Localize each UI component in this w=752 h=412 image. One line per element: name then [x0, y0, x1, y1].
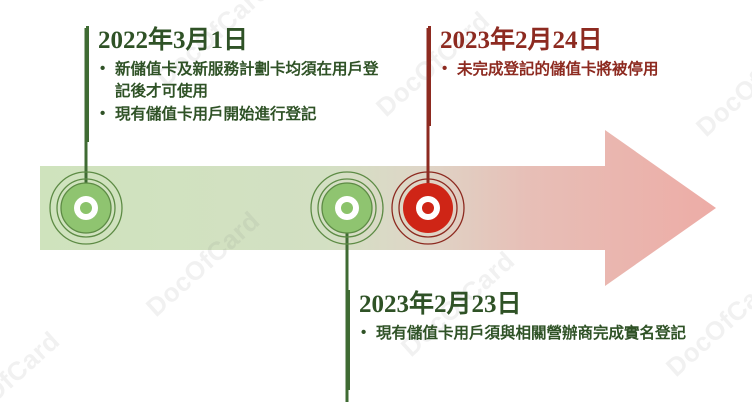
block-accent-rule: [86, 26, 89, 142]
event-bullet-list: 新儲值卡及新服務計劃卡均須在用戶登記後才可使用 現有儲值卡用戶開始進行登記: [98, 59, 386, 126]
marker-2022-03-01[interactable]: [50, 172, 122, 244]
event-bullet: 現有儲值卡用戶開始進行登記: [98, 104, 386, 126]
event-bullet: 新儲值卡及新服務計劃卡均須在用戶登記後才可使用: [98, 59, 386, 103]
event-bullet: 未完成登記的儲值卡將被停用: [440, 59, 678, 81]
event-block-2022-03-01: 2022年3月1日 新儲值卡及新服務計劃卡均須在用戶登記後才可使用 現有儲值卡用…: [86, 26, 386, 142]
timeline-infographic: DocOfCard DocOfCard DocOfCard DocOfCard …: [0, 0, 752, 412]
event-bullet: 現有儲值卡用戶須與相關營辦商完成實名登記: [359, 323, 687, 345]
block-accent-rule: [347, 290, 350, 390]
event-bullet-list: 現有儲值卡用戶須與相關營辦商完成實名登記: [359, 323, 687, 345]
event-date-title: 2023年2月23日: [359, 290, 687, 320]
event-date-title: 2022年3月1日: [98, 26, 386, 56]
block-accent-rule: [428, 26, 431, 126]
marker-2023-02-23[interactable]: [311, 172, 383, 244]
timeline-arrow: [40, 130, 716, 286]
event-date-title: 2023年2月24日: [440, 26, 678, 56]
event-block-2023-02-24: 2023年2月24日 未完成登記的儲值卡將被停用: [428, 26, 678, 126]
event-block-2023-02-23: 2023年2月23日 現有儲值卡用戶須與相關營辦商完成實名登記: [347, 290, 687, 390]
event-bullet-list: 未完成登記的儲值卡將被停用: [440, 59, 678, 81]
